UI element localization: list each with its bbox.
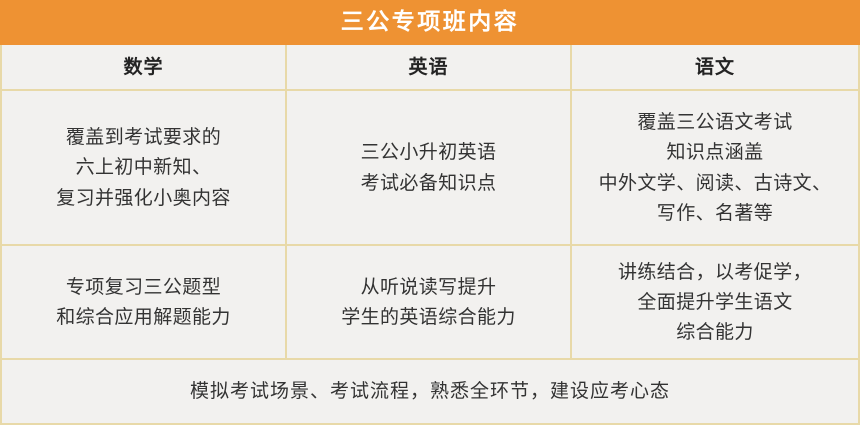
column-header-chinese: 语文 xyxy=(572,45,858,89)
cell-english-row2-text: 从听说读写提升 学生的英语综合能力 xyxy=(341,272,516,332)
column-header-math-label: 数学 xyxy=(123,56,163,79)
column-header-english-label: 英语 xyxy=(408,56,448,79)
table-header-row: 数学 英语 语文 xyxy=(2,45,858,91)
cell-chinese-row2: 讲练结合，以考促学， 全面提升学生语文 综合能力 xyxy=(572,246,858,358)
column-header-math: 数学 xyxy=(2,45,287,89)
cell-chinese-row1-text: 覆盖三公语文考试 知识点涵盖 中外文学、阅读、古诗文、 写作、名著等 xyxy=(599,107,832,227)
cell-chinese-row2-text: 讲练结合，以考促学， 全面提升学生语文 综合能力 xyxy=(618,257,812,347)
table-title-banner: 三公专项班内容 xyxy=(0,0,860,45)
cell-english-row2: 从听说读写提升 学生的英语综合能力 xyxy=(287,246,572,358)
cell-math-row2-text: 专项复习三公题型 和综合应用解题能力 xyxy=(56,272,231,332)
cell-math-row1: 覆盖到考试要求的 六上初中新知、 复习并强化小奥内容 xyxy=(2,91,287,244)
column-header-chinese-label: 语文 xyxy=(695,56,735,79)
cell-english-row1: 三公小升初英语 考试必备知识点 xyxy=(287,91,572,244)
cell-footer-summary: 模拟考试场景、考试流程，熟悉全环节，建设应考心态 xyxy=(2,360,858,423)
cell-chinese-row1: 覆盖三公语文考试 知识点涵盖 中外文学、阅读、古诗文、 写作、名著等 xyxy=(572,91,858,244)
table-row: 覆盖到考试要求的 六上初中新知、 复习并强化小奥内容 三公小升初英语 考试必备知… xyxy=(2,91,858,246)
cell-english-row1-text: 三公小升初英语 考试必备知识点 xyxy=(361,137,497,197)
table-row: 专项复习三公题型 和综合应用解题能力 从听说读写提升 学生的英语综合能力 讲练结… xyxy=(2,246,858,360)
cell-math-row1-text: 覆盖到考试要求的 六上初中新知、 复习并强化小奥内容 xyxy=(56,122,231,212)
cell-math-row2: 专项复习三公题型 和综合应用解题能力 xyxy=(2,246,287,358)
table-title: 三公专项班内容 xyxy=(341,11,520,34)
table-footer-row: 模拟考试场景、考试流程，熟悉全环节，建设应考心态 xyxy=(2,360,858,423)
table-body: 数学 英语 语文 覆盖到考试要求的 六上初中新知、 复习并强化小奥内容 三公小升… xyxy=(0,45,860,425)
column-header-english: 英语 xyxy=(287,45,572,89)
cell-footer-summary-text: 模拟考试场景、考试流程，熟悉全环节，建设应考心态 xyxy=(190,379,670,404)
course-content-table: 三公专项班内容 数学 英语 语文 覆盖到考试要求的 六上初中新知、 复习并强化小… xyxy=(0,0,860,425)
